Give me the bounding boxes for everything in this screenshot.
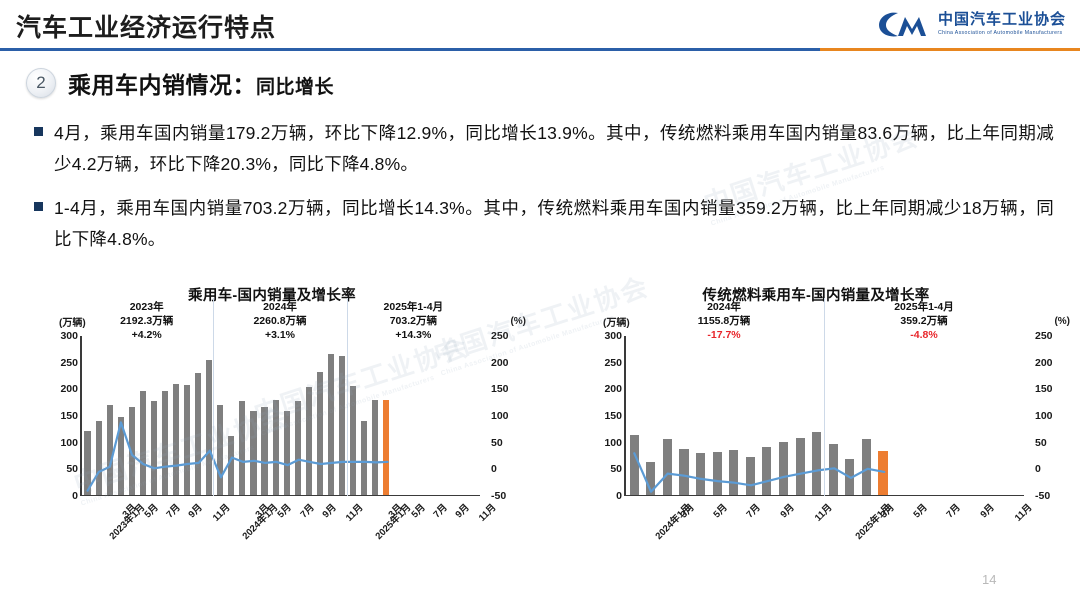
y2-axis-tick: 150	[491, 383, 509, 395]
y-axis-left: 300250200150100500	[42, 336, 78, 496]
line-series	[82, 336, 482, 496]
header-divider	[0, 48, 1080, 51]
annotation-line: +14.3%	[358, 328, 468, 342]
year-divider	[213, 298, 214, 496]
year-divider	[824, 298, 825, 496]
x-axis-tick-label: 9月	[776, 500, 796, 520]
page-header: 汽车工业经济运行特点 中国汽车工业协会 China Association of…	[0, 0, 1080, 52]
x-axis-tick-label: 11月	[342, 500, 366, 524]
x-axis-tick-label: 5月	[274, 500, 294, 520]
section-number-badge: 2	[26, 68, 56, 98]
section-title-main: 乘用车内销情况：	[68, 72, 256, 98]
annotation-line: 2024年	[225, 300, 335, 314]
x-axis-tick-label: 11月	[1011, 500, 1035, 524]
page-title: 汽车工业经济运行特点	[16, 8, 276, 44]
annotation-line: -17.7%	[669, 328, 779, 342]
y2-axis-tick: 0	[1035, 463, 1041, 475]
plot-area	[80, 336, 480, 496]
chart-y2-unit-label: (%)	[1054, 316, 1070, 327]
y-axis-tick: 200	[60, 383, 78, 395]
annotation-line: 703.2万辆	[358, 314, 468, 328]
bullet-square-icon	[34, 202, 43, 211]
bullet-square-icon	[34, 127, 43, 136]
y2-axis-tick: 50	[1035, 437, 1047, 449]
y-axis-tick: 0	[72, 490, 78, 502]
section-title: 乘用车内销情况：同比增长	[68, 66, 334, 100]
plot-area-wrapper: 300250200150100500 250200150100500-50 20…	[556, 336, 1076, 508]
y2-axis-tick: 250	[491, 330, 509, 342]
x-axis-tick-label: 9月	[185, 500, 205, 520]
y2-axis-tick: 0	[491, 463, 497, 475]
y-axis-tick: 250	[604, 357, 622, 369]
y-axis-tick: 250	[60, 357, 78, 369]
chart-annotation: 2024年2260.8万辆+3.1%	[225, 300, 335, 343]
x-axis-tick-label: 11月	[475, 500, 499, 524]
x-axis-tick-label: 7月	[743, 500, 763, 520]
x-axis-tick-label: 5月	[407, 500, 427, 520]
annotation-line: +4.2%	[92, 328, 202, 342]
chart-annotation: 2025年1-4月703.2万辆+14.3%	[358, 300, 468, 343]
y-axis-tick: 200	[604, 383, 622, 395]
y2-axis-tick: 100	[1035, 410, 1053, 422]
y2-axis-tick: -50	[1035, 490, 1050, 502]
y2-axis-tick: 250	[1035, 330, 1053, 342]
y-axis-right: 250200150100500-50	[485, 336, 525, 496]
y-axis-tick: 100	[60, 437, 78, 449]
x-axis-labels: 2024年1月3月5月7月9月11月2025年1月3月5月7月9月11月	[624, 498, 1024, 558]
annotation-line: 2192.3万辆	[92, 314, 202, 328]
bullet-list: 4月，乘用车国内销量179.2万辆，环比下降12.9%，同比增长13.9%。其中…	[34, 118, 1054, 269]
chart-ice-passenger-vehicle: 传统燃料乘用车-国内销量及增长率 (万辆) (%) 30025020015010…	[556, 284, 1076, 574]
chart-title: 传统燃料乘用车-国内销量及增长率	[556, 284, 1076, 305]
chart-y-unit-label: (万辆)	[59, 314, 86, 329]
bullet-item: 1-4月，乘用车国内销量703.2万辆，同比增长14.3%。其中，传统燃料乘用车…	[34, 193, 1054, 254]
y-axis-tick: 0	[616, 490, 622, 502]
y2-axis-tick: 100	[491, 410, 509, 422]
annotation-line: 2025年1-4月	[869, 300, 979, 314]
x-axis-tick-label: 9月	[318, 500, 338, 520]
section-heading: 2 乘用车内销情况：同比增长	[26, 66, 334, 100]
y-axis-tick: 300	[604, 330, 622, 342]
section-title-sub: 同比增长	[256, 77, 334, 98]
growth-rate-line	[88, 422, 388, 490]
y-axis-left: 300250200150100500	[586, 336, 622, 496]
y-axis-tick: 50	[610, 463, 622, 475]
y-axis-tick: 50	[66, 463, 78, 475]
logo-text-en: China Association of Automobile Manufact…	[938, 30, 1066, 36]
y-axis-tick: 150	[60, 410, 78, 422]
y2-axis-tick: 50	[491, 437, 503, 449]
plot-area-wrapper: 300250200150100500 250200150100500-50 20…	[12, 336, 532, 508]
bullet-text: 1-4月，乘用车国内销量703.2万辆，同比增长14.3%。其中，传统燃料乘用车…	[54, 193, 1054, 254]
x-axis-labels: 2023年1月3月5月7月9月11月2024年1月3月5月7月9月11月2025…	[80, 498, 480, 558]
growth-rate-line	[634, 453, 884, 491]
annotation-line: +3.1%	[225, 328, 335, 342]
x-axis-tick-label: 11月	[811, 500, 835, 524]
annotation-line: 2023年	[92, 300, 202, 314]
x-axis-tick-label: 9月	[976, 500, 996, 520]
y-axis-right: 250200150100500-50	[1029, 336, 1069, 496]
y2-axis-tick: 200	[491, 357, 509, 369]
x-axis-tick-label: 7月	[163, 500, 183, 520]
logo-text-cn: 中国汽车工业协会	[938, 12, 1066, 29]
annotation-line: 1155.8万辆	[669, 314, 779, 328]
y-axis-tick: 300	[60, 330, 78, 342]
caam-logo: 中国汽车工业协会 China Association of Automobile…	[876, 9, 1066, 39]
annotation-line: -4.8%	[869, 328, 979, 342]
x-axis-tick-label: 11月	[208, 500, 232, 524]
y2-axis-tick: 200	[1035, 357, 1053, 369]
y-axis-tick: 100	[604, 437, 622, 449]
chart-annotation: 2024年1155.8万辆-17.7%	[669, 300, 779, 343]
y-axis-tick: 150	[604, 410, 622, 422]
chart-annotation: 2023年2192.3万辆+4.2%	[92, 300, 202, 343]
x-axis-tick-label: 7月	[429, 500, 449, 520]
x-axis-tick-label: 7月	[943, 500, 963, 520]
chart-annotation: 2025年1-4月359.2万辆-4.8%	[869, 300, 979, 343]
x-axis-tick-label: 5月	[140, 500, 160, 520]
year-divider	[347, 298, 348, 496]
annotation-line: 359.2万辆	[869, 314, 979, 328]
annotation-line: 2025年1-4月	[358, 300, 468, 314]
annotation-line: 2260.8万辆	[225, 314, 335, 328]
x-axis-tick-label: 5月	[909, 500, 929, 520]
y2-axis-tick: 150	[1035, 383, 1053, 395]
x-axis-tick-label: 7月	[296, 500, 316, 520]
line-series	[626, 336, 1026, 496]
header-divider-blue	[0, 48, 820, 51]
x-axis-tick-label: 9月	[451, 500, 471, 520]
header-divider-orange	[820, 48, 1080, 51]
bullet-item: 4月，乘用车国内销量179.2万辆，环比下降12.9%，同比增长13.9%。其中…	[34, 118, 1054, 179]
page-number: 14	[982, 572, 996, 587]
caam-logo-mark	[876, 9, 930, 39]
y2-axis-tick: -50	[491, 490, 506, 502]
chart-y-unit-label: (万辆)	[603, 314, 630, 329]
chart-y2-unit-label: (%)	[510, 316, 526, 327]
chart-passenger-vehicle: 乘用车-国内销量及增长率 (万辆) (%) 300250200150100500…	[12, 284, 532, 574]
x-axis-tick-label: 5月	[709, 500, 729, 520]
annotation-line: 2024年	[669, 300, 779, 314]
bullet-text: 4月，乘用车国内销量179.2万辆，环比下降12.9%，同比增长13.9%。其中…	[54, 118, 1054, 179]
